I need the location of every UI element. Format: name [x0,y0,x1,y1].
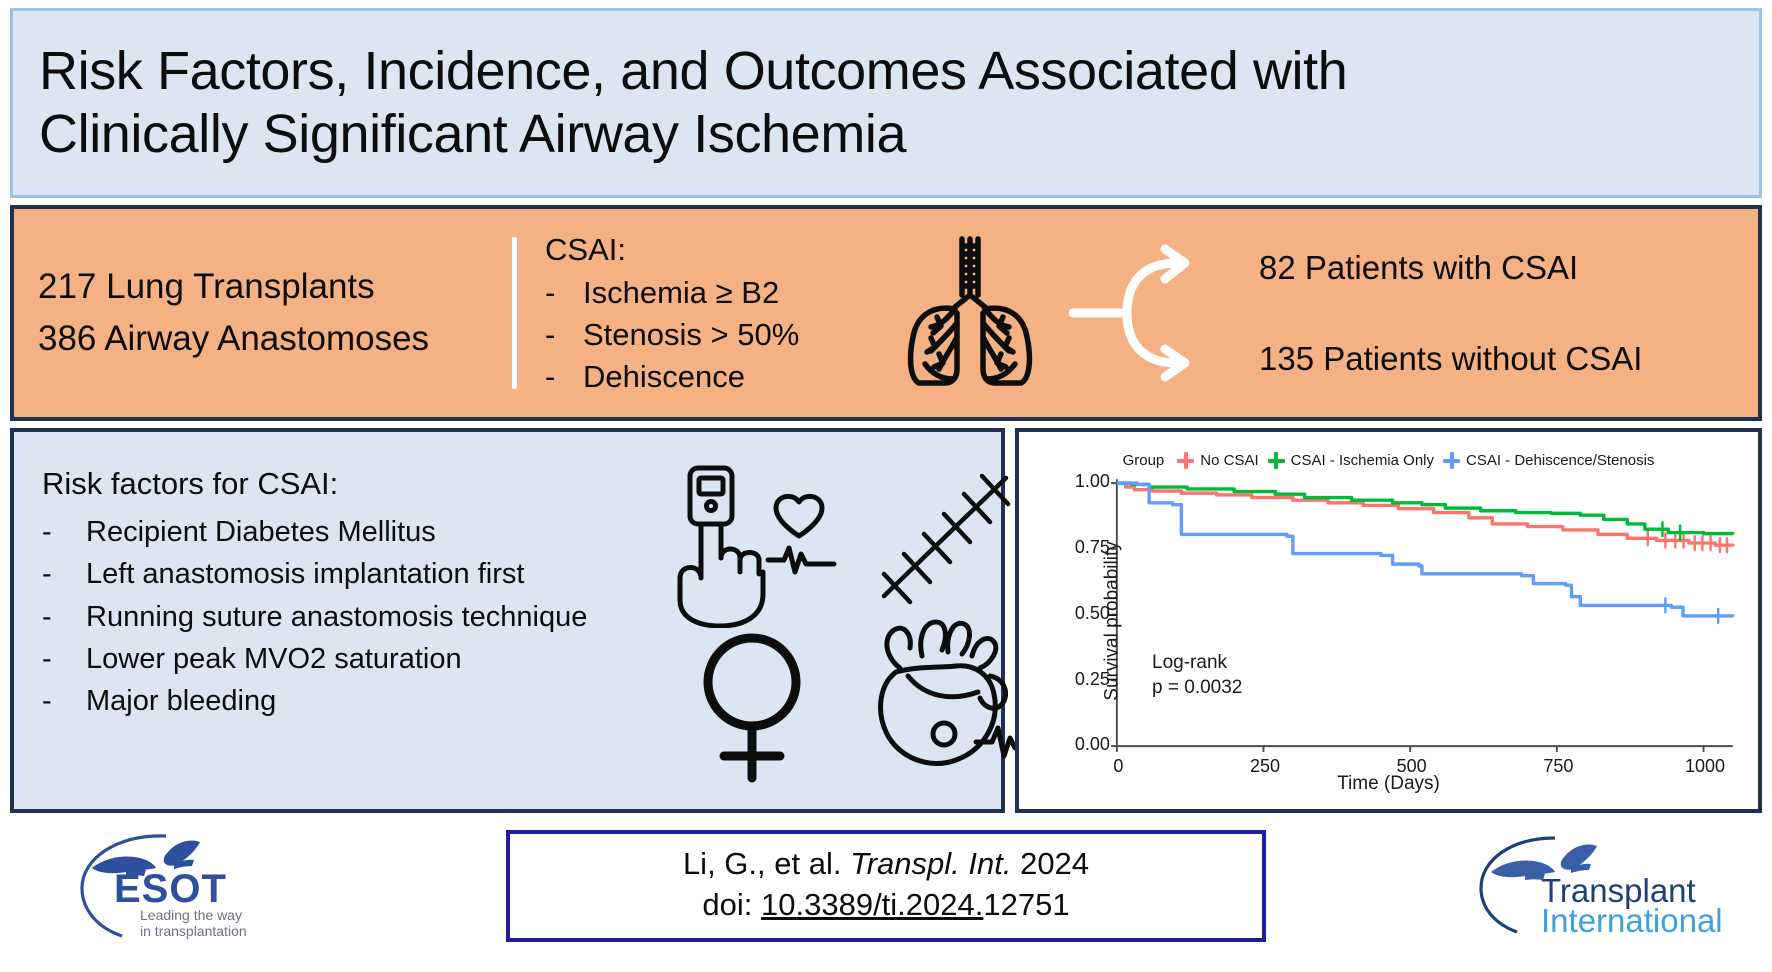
risk-factors-header: Risk factors for CSAI: [42,466,662,502]
outcome-with-csai: 82 Patients with CSAI [1259,251,1642,284]
csai-definition-header: CSAI: [545,229,875,271]
esot-logo: ESOT Leading the way in transplantation [70,830,280,942]
y-tick-label: 0.25 [1048,669,1110,690]
doi-link[interactable]: 10.3389/ti.2024. [761,887,983,922]
esot-tagline-line1: Leading the way [140,907,242,923]
risk-factors-text: Risk factors for CSAI: - Recipient Diabe… [14,450,662,809]
y-tick-label: 0.75 [1048,537,1110,558]
chart-legend: Group No CSAI CSAI - Ischemia Only CSAI … [1025,452,1752,469]
transplant-count: 217 Lung Transplants [38,261,508,313]
graphical-abstract: Risk Factors, Incidence, and Outcomes As… [0,0,1772,972]
y-tick-label: 0.00 [1048,734,1110,755]
x-tick-label: 0 [1083,756,1153,777]
suture-stitches-icon-wrap [870,468,1022,615]
anastomoses-count: 386 Airway Anastomoses [38,313,508,365]
risk-factors-list: - Recipient Diabetes Mellitus - Left ana… [42,511,662,723]
risk-icons-group [662,450,1001,809]
lungs-icon [895,233,1045,393]
citation-box: Li, G., et al. Transpl. Int. 2024 doi: 1… [506,830,1266,942]
x-tick-label: 750 [1523,756,1593,777]
risk-factors-panel: Risk factors for CSAI: - Recipient Diabe… [10,428,1005,813]
list-dash: - [545,314,583,356]
list-dash: - [545,356,583,398]
risk-factor-label: Recipient Diabetes Mellitus [86,511,436,553]
legend-item-no-csai[interactable]: No CSAI [1177,452,1258,469]
study-counts: 217 Lung Transplants 386 Airway Anastomo… [38,261,508,365]
logrank-annotation: Log-rank p = 0.0032 [1152,651,1242,700]
female-gender-icon-wrap [696,626,808,791]
branching-arrow-wrap [1059,241,1249,386]
logrank-pvalue: p = 0.0032 [1152,676,1242,701]
title-line-1: Risk Factors, Incidence, and Outcomes As… [39,40,1347,103]
branching-arrow-icon [1069,241,1239,386]
risk-factor-label: Lower peak MVO2 saturation [86,638,462,680]
csai-criterion-label: Stenosis > 50% [583,314,799,356]
legend-label: No CSAI [1200,452,1258,469]
risk-factor-item: - Major bleeding [42,680,662,722]
legend-item-dehiscence-stenosis[interactable]: CSAI - Dehiscence/Stenosis [1443,452,1654,469]
risk-factor-label: Running suture anastomosis technique [86,596,587,638]
pulse-oximeter-finger-icon [668,460,840,628]
logrank-label: Log-rank [1152,651,1242,676]
page-title: Risk Factors, Incidence, and Outcomes As… [39,40,1347,166]
doi-tail: 12751 [983,887,1069,922]
transplant-international-logo-wrap: Transplant International [1432,832,1762,940]
survival-plot-svg [1025,438,1752,803]
anatomical-heart-icon [852,610,1038,782]
csai-criterion: - Ischemia ≥ B2 [545,272,875,314]
csai-criterion: - Dehiscence [545,356,875,398]
doi-prefix: doi: [702,887,752,922]
transplant-wordmark-line2: International [1541,902,1723,939]
risk-factor-label: Left anastomosis implantation first [86,553,524,595]
list-dash: - [42,680,86,722]
lungs-icon-wrap [881,233,1059,393]
csai-criterion: - Stenosis > 50% [545,314,875,356]
survival-chart: Group No CSAI CSAI - Ischemia Only CSAI … [1025,438,1752,803]
title-line-2: Clinically Significant Airway Ischemia [39,103,1347,166]
anatomical-heart-icon-wrap [852,610,1038,787]
x-tick-label: 1000 [1670,756,1740,777]
list-dash: - [42,596,86,638]
legend-marker-plus-icon [1443,452,1460,469]
list-dash: - [42,553,86,595]
legend-label: CSAI - Dehiscence/Stenosis [1466,452,1654,469]
csai-definition: CSAI: - Ischemia ≥ B2 - Stenosis > 50% -… [545,229,875,397]
csai-criterion-label: Ischemia ≥ B2 [583,272,779,314]
risk-factor-label: Major bleeding [86,680,276,722]
legend-title: Group [1123,452,1165,469]
citation-year: 2024 [1020,846,1089,881]
vertical-divider [512,237,517,389]
list-dash: - [42,511,86,553]
transplant-international-logo: Transplant International [1471,832,1723,940]
outcomes-list: 82 Patients with CSAI 135 Patients witho… [1259,251,1642,375]
esot-tagline-line2: in transplantation [140,923,247,939]
female-gender-icon [696,626,808,786]
csai-criterion-label: Dehiscence [583,356,745,398]
study-overview-panel: 217 Lung Transplants 386 Airway Anastomo… [10,205,1762,421]
risk-factor-item: - Lower peak MVO2 saturation [42,638,662,680]
suture-stitches-icon [870,468,1022,610]
legend-marker-plus-icon [1268,452,1285,469]
outcome-without-csai: 135 Patients without CSAI [1259,342,1642,375]
results-row: Risk factors for CSAI: - Recipient Diabe… [10,428,1762,813]
x-tick-label: 500 [1377,756,1447,777]
citation-journal: Transpl. Int. [850,846,1011,881]
y-tick-label: 1.00 [1048,471,1110,492]
list-dash: - [42,638,86,680]
y-tick-label: 0.50 [1048,603,1110,624]
title-panel: Risk Factors, Incidence, and Outcomes As… [10,8,1762,198]
footer: ESOT Leading the way in transplantation … [10,822,1762,950]
pulse-oximeter-finger-icon-wrap [668,460,840,633]
survival-chart-panel: Group No CSAI CSAI - Ischemia Only CSAI … [1015,428,1762,813]
risk-factor-item: - Running suture anastomosis technique [42,596,662,638]
citation-reference: Li, G., et al. Transpl. Int. 2024 [510,844,1262,885]
citation-doi[interactable]: doi: 10.3389/ti.2024.12751 [510,885,1262,926]
citation-authors: Li, G., et al. [683,846,842,881]
legend-marker-plus-icon [1177,452,1194,469]
risk-factor-item: - Left anastomosis implantation first [42,553,662,595]
list-dash: - [545,272,583,314]
x-tick-label: 250 [1230,756,1300,777]
legend-item-ischemia-only[interactable]: CSAI - Ischemia Only [1268,452,1434,469]
esot-logo-wrap: ESOT Leading the way in transplantation [10,830,340,942]
esot-wordmark: ESOT [114,867,227,911]
risk-factor-item: - Recipient Diabetes Mellitus [42,511,662,553]
legend-label: CSAI - Ischemia Only [1291,452,1434,469]
